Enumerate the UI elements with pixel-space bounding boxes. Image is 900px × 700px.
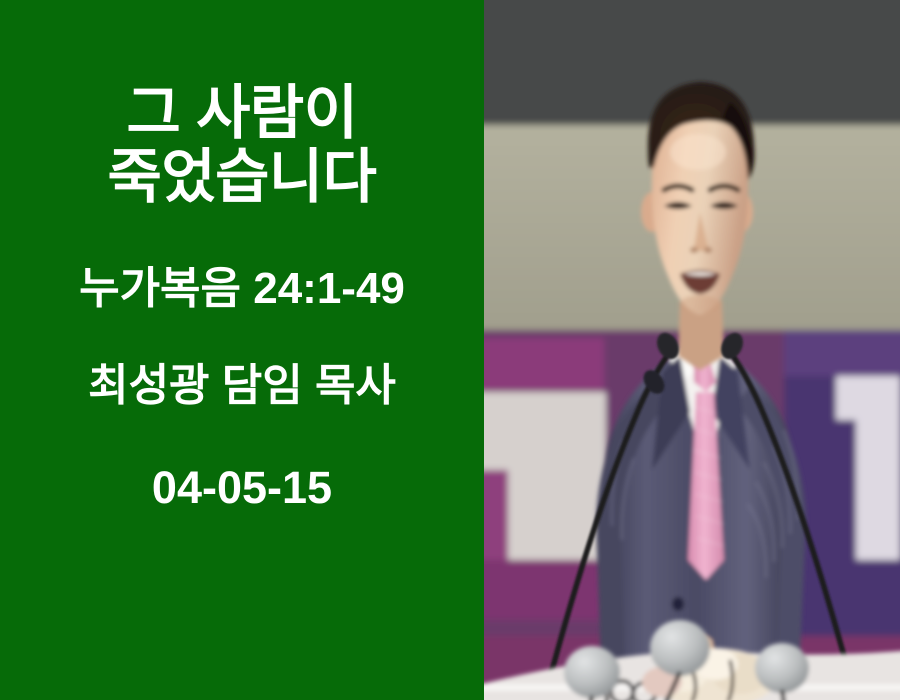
speaker-photo-image [484,0,900,700]
speaker-photo [484,0,900,700]
microphone-windscreen [564,646,620,698]
scripture-reference: 누가복음 24:1-49 [0,265,484,313]
sermon-title-line-1: 그 사람이 [0,82,484,144]
sermon-slide: 그 사람이 죽었습니다 누가복음 24:1-49 최성광 담임 목사 04-05… [0,0,900,700]
microphone-windscreen [755,643,809,693]
title-panel: 그 사람이 죽었습니다 누가복음 24:1-49 최성광 담임 목사 04-05… [0,0,484,700]
microphone-windscreen [650,620,710,676]
speaker-name: 최성광 담임 목사 [0,362,484,410]
sermon-title-line-2: 죽었습니다 [0,146,484,208]
sermon-date: 04-05-15 [0,463,484,513]
